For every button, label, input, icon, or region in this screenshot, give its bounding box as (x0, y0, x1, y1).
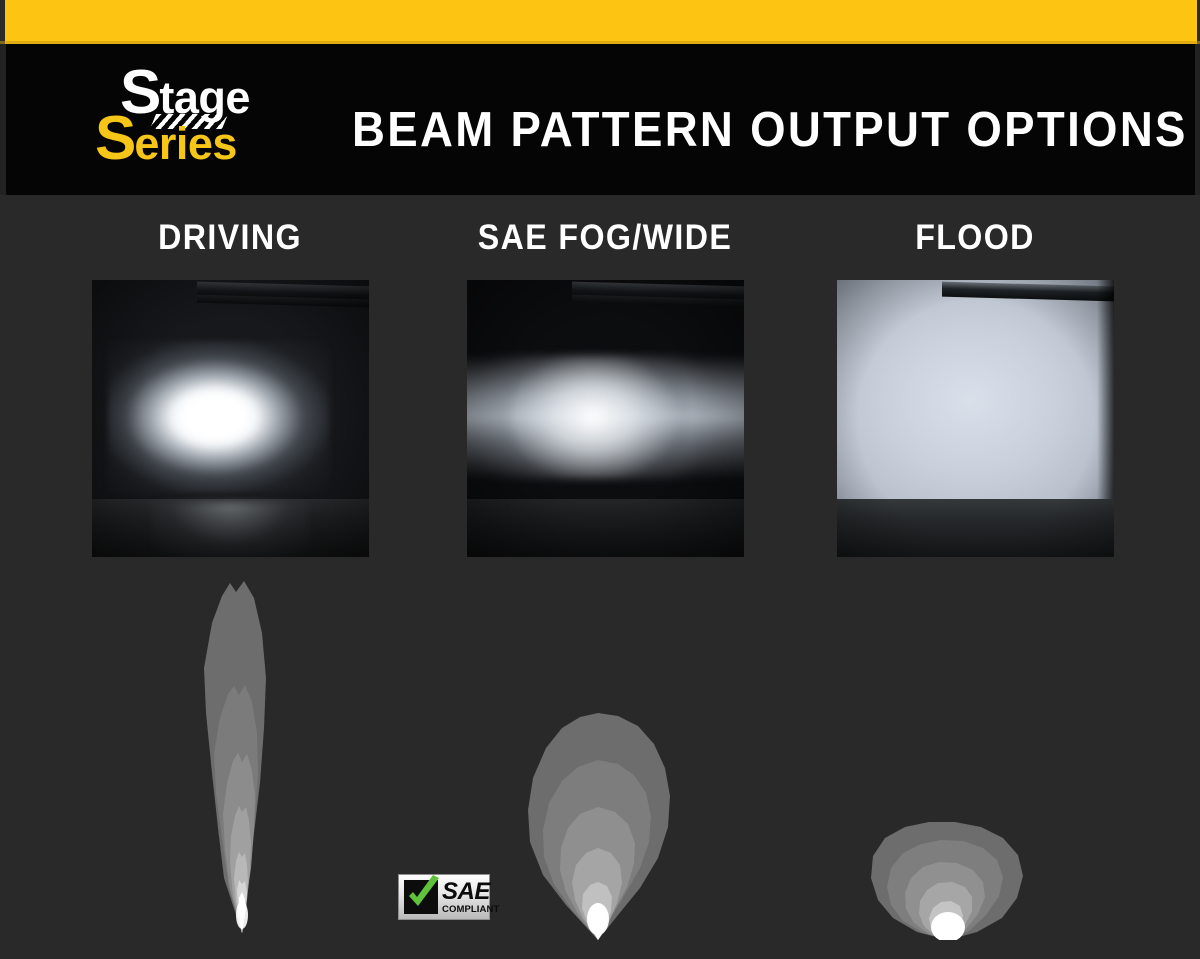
header-left-edge (0, 44, 6, 195)
driving-beam-pattern-diagram (182, 578, 302, 933)
flood-beam-photo (837, 280, 1114, 557)
sae-fog-wide-beam-photo (467, 280, 744, 557)
column-title-driving: DRIVING (83, 218, 377, 264)
sae-badge-main-label: SAE (442, 880, 499, 904)
logo-series-rest: eries (134, 121, 237, 166)
green-checkmark-icon (401, 874, 445, 918)
sae-badge-text: SAE COMPLIANT (442, 880, 499, 915)
beam-core-glow (587, 903, 609, 935)
sae-checkbox (404, 880, 438, 914)
sae-badge-sub-label: COMPLIANT (442, 905, 499, 915)
driving-beam-photo (92, 280, 369, 557)
column-driving: DRIVING (70, 218, 390, 557)
beam-layers (204, 581, 266, 933)
top-accent-bar (0, 0, 1200, 44)
beam-pattern-infographic: Stage Series BEAM PATTERN OUTPUT OPTIONS… (0, 0, 1200, 959)
photo-vignette (467, 280, 744, 557)
beam-core-glow (236, 901, 248, 929)
beam-layers (528, 713, 670, 940)
header-right-edge (1195, 44, 1200, 195)
photo-vignette (837, 280, 1114, 557)
sae-compliant-badge: SAE COMPLIANT (398, 874, 490, 920)
logo-word-series: Series (95, 110, 237, 168)
column-flood: FLOOD (815, 218, 1135, 557)
logo-series-initial: S (95, 110, 134, 168)
photo-vignette (92, 280, 369, 557)
beam-layers (871, 822, 1023, 940)
page-title: BEAM PATTERN OUTPUT OPTIONS (352, 100, 1096, 170)
stage-series-logo: Stage Series (95, 62, 310, 174)
column-title-flood: FLOOD (828, 218, 1122, 264)
flood-beam-pattern-diagram (845, 808, 1051, 940)
sae-fog-wide-beam-pattern-diagram (500, 700, 696, 940)
column-sae-fog-wide: SAE FOG/WIDE (445, 218, 765, 557)
top-bar-left-edge (0, 0, 5, 44)
column-title-sae-fog-wide: SAE FOG/WIDE (458, 218, 752, 264)
